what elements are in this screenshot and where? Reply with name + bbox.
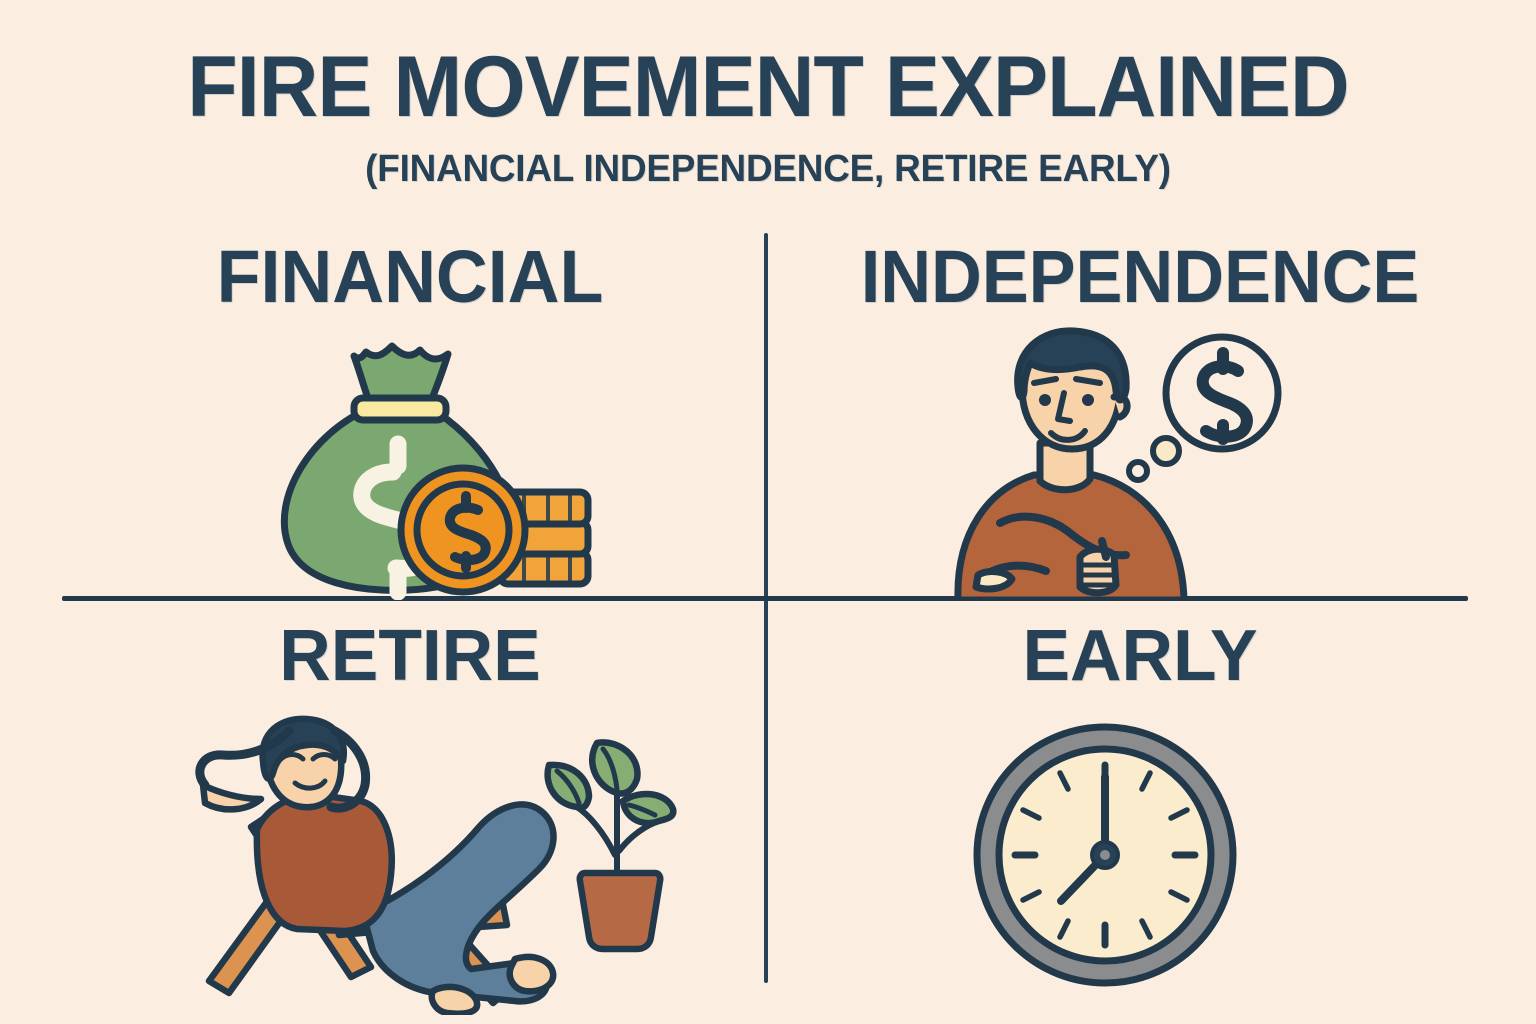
infographic-canvas: FIRE MOVEMENT EXPLAINED (FINANCIAL INDEP…	[0, 0, 1536, 1024]
vertical-divider	[764, 233, 768, 983]
person-thinking-about-money-icon	[930, 325, 1300, 600]
wall-clock-icon	[955, 705, 1255, 1005]
quadrant-label-independence: INDEPENDENCE	[798, 240, 1482, 314]
page-subtitle: (FINANCIAL INDEPENDENCE, RETIRE EARLY)	[23, 150, 1513, 188]
quadrant-label-retire: RETIRE	[64, 620, 757, 692]
person-relaxing-in-deck-chair-icon	[185, 715, 735, 1015]
quadrant-label-early: EARLY	[784, 620, 1497, 692]
money-bag-and-coins-icon	[258, 330, 618, 600]
quadrant-label-financial: FINANCIAL	[71, 240, 750, 314]
page-title: FIRE MOVEMENT EXPLAINED	[31, 44, 1506, 130]
